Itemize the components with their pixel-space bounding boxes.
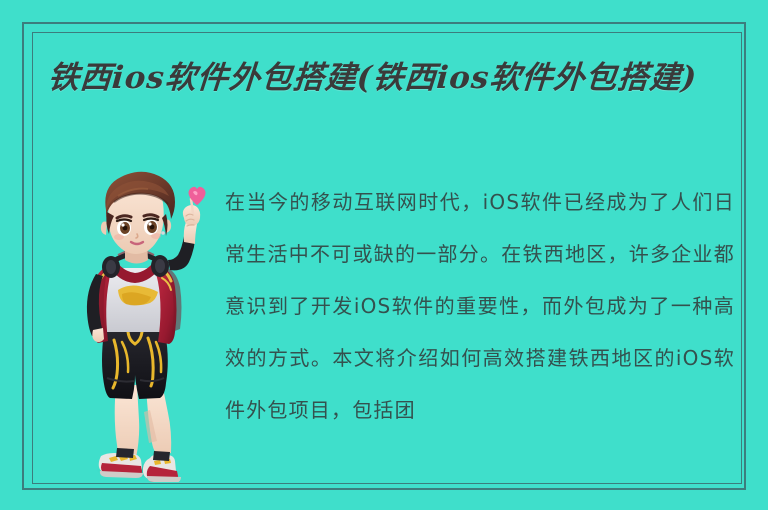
chibi-boy-with-heart-lollipop-illustration [62, 170, 217, 482]
page-title: 铁西ios软件外包搭建(铁西ios软件外包搭建) [46, 54, 729, 102]
article-body: 在当今的移动互联网时代，iOS软件已经成为了人们日常生活中不可或缺的一部分。在铁… [225, 176, 735, 436]
page-root: 铁西ios软件外包搭建(铁西ios软件外包搭建) [0, 0, 768, 510]
article-content: 铁西ios软件外包搭建(铁西ios软件外包搭建) [34, 34, 741, 483]
